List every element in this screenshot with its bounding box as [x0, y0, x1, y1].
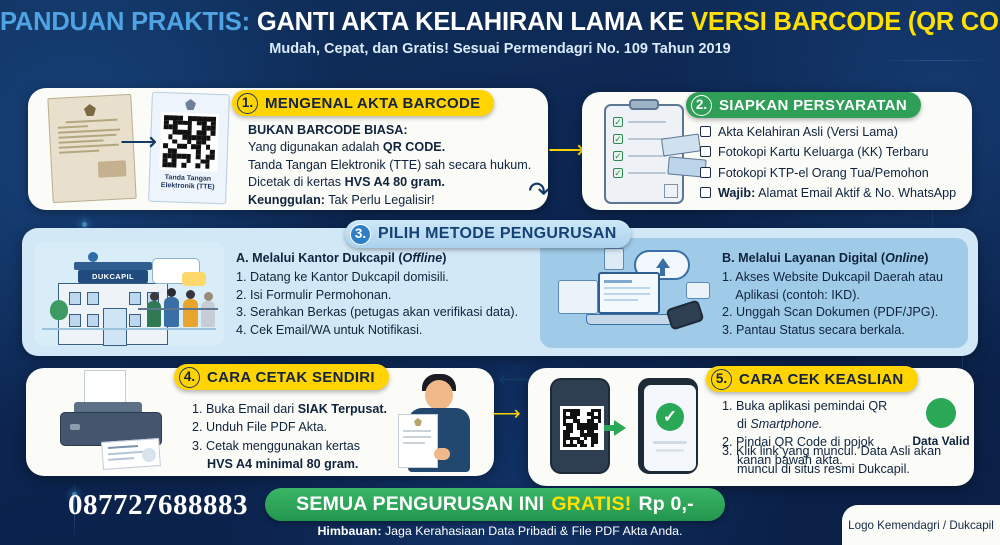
laptop-line	[604, 287, 650, 289]
queue-barrier-icon	[138, 308, 218, 310]
option-b-item: Aplikasi (contoh: IKD).	[722, 287, 972, 304]
option-b-heading-close: )	[924, 251, 928, 265]
checkbox-icon[interactable]	[700, 126, 711, 137]
upload-arrow-stem	[660, 268, 665, 276]
person-head	[425, 380, 453, 410]
checked-box-icon: ✓	[613, 151, 623, 161]
step-3-title: PILIH METODE PENGURUSAN	[378, 225, 617, 243]
checklist-item[interactable]: Wajib: Alamat Email Aktif & No. WhatsApp	[700, 185, 968, 202]
step-4-item-3-n: 3.	[192, 439, 203, 453]
result-line	[653, 441, 687, 444]
document-card-icon	[604, 248, 624, 270]
upload-arrow-icon	[656, 258, 670, 268]
qr-code-icon	[560, 406, 604, 450]
title-part-2: GANTI AKTA KELAHIRAN LAMA KE	[257, 8, 684, 36]
checklist-label: Akta Kelahiran Asli (Versi Lama)	[718, 124, 898, 141]
step-5-item-1-n: 1.	[722, 399, 733, 413]
flow-arrow-right-small-icon: ⟶	[492, 404, 521, 424]
step-3-number: 3.	[350, 224, 371, 245]
qr-scan-illustration: ✓	[546, 372, 706, 480]
step-4-item-1: Buka Email dari	[206, 402, 298, 416]
flow-arrow-right-icon: ⟶	[548, 136, 585, 162]
step-1-line-3: Tanda Tangan Elektronik (TTE) sah secara…	[248, 158, 531, 172]
qr-code-icon	[159, 112, 219, 172]
option-a-heading: A. Melalui Kantor Dukcapil (	[236, 251, 403, 265]
step-1-line-5b: Tak Perlu Legalisir!	[325, 193, 435, 207]
step-5-item-6: muncul di situs resmi Dukcapil.	[737, 462, 910, 476]
printed-seal-icon	[142, 448, 156, 462]
checklist-item[interactable]: Fotokopi KTP-el Orang Tua/Pemohon	[700, 165, 968, 182]
step-5-badge: 5. CARA CEK KEASLIAN	[706, 366, 918, 392]
barcode-certificate-illustration: Tanda Tangan Elektronik (TTE)	[148, 92, 230, 205]
step-5-body-cont: 3. Klik link yang muncul. Data Asli akan…	[722, 443, 968, 479]
infographic-canvas: PANDUAN PRAKTIS: GANTI AKTA KELAHIRAN LA…	[0, 0, 1000, 545]
himbauan-text: Jaga Kerahasiaan Data Pribadi & File PDF…	[382, 524, 683, 538]
option-b-heading: B. Melalui Layanan Digital (	[722, 251, 885, 265]
logo-text: Logo Kemendagri / Dukcapil	[848, 519, 994, 532]
option-a-item: 2. Isi Formulir Permohonan.	[236, 287, 536, 304]
option-b-item: 2. Unggah Scan Dokumen (PDF/JPG).	[722, 304, 972, 321]
checked-box-icon: ✓	[613, 134, 623, 144]
scan-arrow-stem	[604, 425, 616, 431]
step-4-title: CARA CETAK SENDIRI	[207, 369, 375, 386]
person-body	[183, 299, 198, 327]
dukcapil-office-illustration: DUKCAPIL	[34, 242, 224, 346]
step-4-item-2-n: 2.	[192, 420, 203, 434]
person-head	[150, 292, 159, 301]
transform-arrow-icon: ⟶	[120, 128, 157, 154]
building-roof	[74, 262, 152, 270]
chat-bubble-icon	[686, 282, 710, 299]
result-screen: ✓	[644, 385, 696, 471]
page-title: PANDUAN PRAKTIS: GANTI AKTA KELAHIRAN LA…	[0, 8, 1000, 36]
document-line	[403, 430, 431, 432]
step-5-title: CARA CEK KEASLIAN	[739, 371, 904, 388]
checked-box-icon: ✓	[613, 168, 623, 178]
gratis-banner: SEMUA PENGURUSAN INI GRATIS! Rp 0,-	[265, 488, 725, 521]
step-1-line-2b: QR CODE.	[383, 140, 445, 154]
option-a-heading-italic: Offline	[403, 251, 443, 265]
step-5-item-5-n: 3.	[722, 444, 733, 458]
step-1-line-2a: Yang digunakan adalah	[248, 140, 383, 154]
laptop-line	[604, 299, 638, 301]
building-door	[103, 308, 127, 346]
page-subtitle: Mudah, Cepat, dan Gratis! Sesuai Permend…	[0, 41, 1000, 57]
gratis-text-1: SEMUA PENGURUSAN INI	[296, 493, 544, 516]
circuit-node	[82, 222, 87, 227]
garuda-emblem-icon	[84, 104, 97, 117]
person-with-document-illustration	[392, 372, 492, 474]
step-5-item-2: Smartphone.	[750, 417, 822, 431]
checklist-label: Fotokopi Kartu Keluarga (KK) Terbaru	[718, 144, 928, 161]
ground-line	[42, 328, 216, 330]
himbauan-label: Himbauan:	[317, 524, 381, 538]
checkbox-icon[interactable]	[700, 167, 711, 178]
step-4-item-2: Unduh File PDF Akta.	[206, 420, 327, 434]
gratis-text-3: Rp 0,-	[638, 493, 693, 516]
step-1-title: MENGENAL AKTA BARCODE	[265, 95, 480, 112]
logo-placeholder: Logo Kemendagri / Dukcapil	[842, 505, 1000, 545]
step-2-checklist: Akta Kelahiran Asli (Versi Lama) Fotokop…	[700, 124, 968, 206]
step-4-item-3: Cetak menggunakan kertas	[206, 439, 360, 453]
result-line	[656, 449, 684, 452]
checklist-label-bold: Wajib:	[718, 186, 755, 200]
step-1-line-4b: HVS A4 80 gram.	[345, 175, 445, 189]
step-4-item-4-bold: HVS A4 minimal 80 gram.	[207, 457, 358, 471]
step-4-badge: 4. CARA CETAK SENDIRI	[174, 364, 389, 390]
step-4-item-1-n: 1.	[192, 402, 203, 416]
option-a-item: 3. Serahkan Berkas (petugas akan verifik…	[236, 304, 536, 321]
phone-number: 087727688883	[68, 489, 248, 522]
laptop-line	[604, 280, 632, 283]
speech-bubble-small-icon	[182, 272, 206, 286]
person-body	[201, 301, 215, 327]
step-1-line-1: BUKAN BARCODE BIASA:	[248, 123, 408, 137]
step-1-number: 1.	[237, 93, 258, 114]
person-hand	[434, 448, 450, 460]
document-line	[403, 436, 431, 438]
checkbox-icon[interactable]	[700, 146, 711, 157]
checklist-label: Fotokopi KTP-el Orang Tua/Pemohon	[718, 165, 929, 182]
option-b-item: 1. Akses Website Dukcapil Daerah atau	[722, 269, 972, 286]
step-2-title: SIAPKAN PERSYARATAN	[719, 97, 907, 114]
step-4-item-1-bold: SIAK Terpusat.	[298, 402, 387, 416]
step-1-line-5a: Keunggulan:	[248, 193, 325, 207]
result-phone-icon: ✓	[638, 378, 698, 474]
window-card-icon	[558, 280, 598, 314]
option-a-item: 1. Datang ke Kantor Dukcapil domisili.	[236, 269, 536, 286]
step-3-option-b: B. Melalui Layanan Digital (Online) 1. A…	[722, 250, 972, 339]
person-head	[204, 292, 213, 301]
printer-illustration	[44, 368, 174, 472]
person-head	[186, 290, 195, 299]
building-sign: DUKCAPIL	[78, 270, 148, 283]
checklist-item[interactable]: Akta Kelahiran Asli (Versi Lama)	[700, 124, 968, 141]
clipboard-clip-icon	[629, 99, 659, 110]
step-1-line-4a: Dicetak di kertas	[248, 175, 345, 189]
option-a-heading-close: )	[442, 251, 446, 265]
option-a-item: 4. Cek Email/WA untuk Notifikasi.	[236, 322, 536, 339]
person-body	[147, 301, 161, 327]
data-valid-icon	[924, 396, 958, 430]
option-b-heading-italic: Online	[885, 251, 924, 265]
scanner-phone-icon	[550, 378, 610, 474]
header: PANDUAN PRAKTIS: GANTI AKTA KELAHIRAN LA…	[0, 8, 1000, 57]
digital-service-illustration	[552, 246, 712, 342]
laptop-line	[604, 293, 650, 295]
title-part-1: PANDUAN PRAKTIS:	[0, 8, 250, 36]
data-valid-label: Data Valid	[905, 434, 977, 448]
step-3-badge: 3. PILIH METODE PENGURUSAN	[345, 220, 631, 248]
tree-icon	[50, 300, 68, 320]
flow-arrow-down-icon: ↷	[528, 178, 550, 204]
step-4-number: 4.	[179, 367, 200, 388]
step-5-item-1: Buka aplikasi pemindai QR	[736, 399, 887, 413]
option-b-item: 3. Pantau Status secara berkala.	[722, 322, 972, 339]
checklist-item[interactable]: Fotokopi Kartu Keluarga (KK) Terbaru	[700, 144, 968, 161]
checklist-label: Alamat Email Aktif & No. WhatsApp	[755, 186, 956, 200]
person-head	[167, 288, 176, 297]
garuda-emblem-icon	[185, 99, 196, 110]
mobile-device-icon	[665, 299, 704, 330]
step-2-badge: 2. SIAPKAN PERSYARATAN	[686, 92, 921, 118]
person-body	[164, 297, 179, 327]
document-line	[403, 442, 425, 444]
step-1-body: BUKAN BARCODE BIASA: Yang digunakan adal…	[248, 122, 538, 209]
circuit-line	[880, 60, 990, 61]
step-1-badge: 1. MENGENAL AKTA BARCODE	[232, 90, 494, 116]
checkbox-icon[interactable]	[700, 187, 711, 198]
valid-check-icon: ✓	[656, 403, 684, 431]
step-5-number: 5.	[711, 369, 732, 390]
printer-slot	[70, 424, 80, 430]
tte-caption: Tanda Tangan Elektronik (TTE)	[150, 174, 227, 193]
step-2-number: 2.	[691, 95, 712, 116]
step-3-option-a: A. Melalui Kantor Dukcapil (Offline) 1. …	[236, 250, 536, 339]
title-part-3: VERSI BARCODE (QR CODE)	[691, 8, 1000, 36]
checked-box-icon: ✓	[613, 117, 623, 127]
laptop-base	[586, 314, 674, 325]
gratis-text-2: GRATIS!	[551, 493, 631, 516]
